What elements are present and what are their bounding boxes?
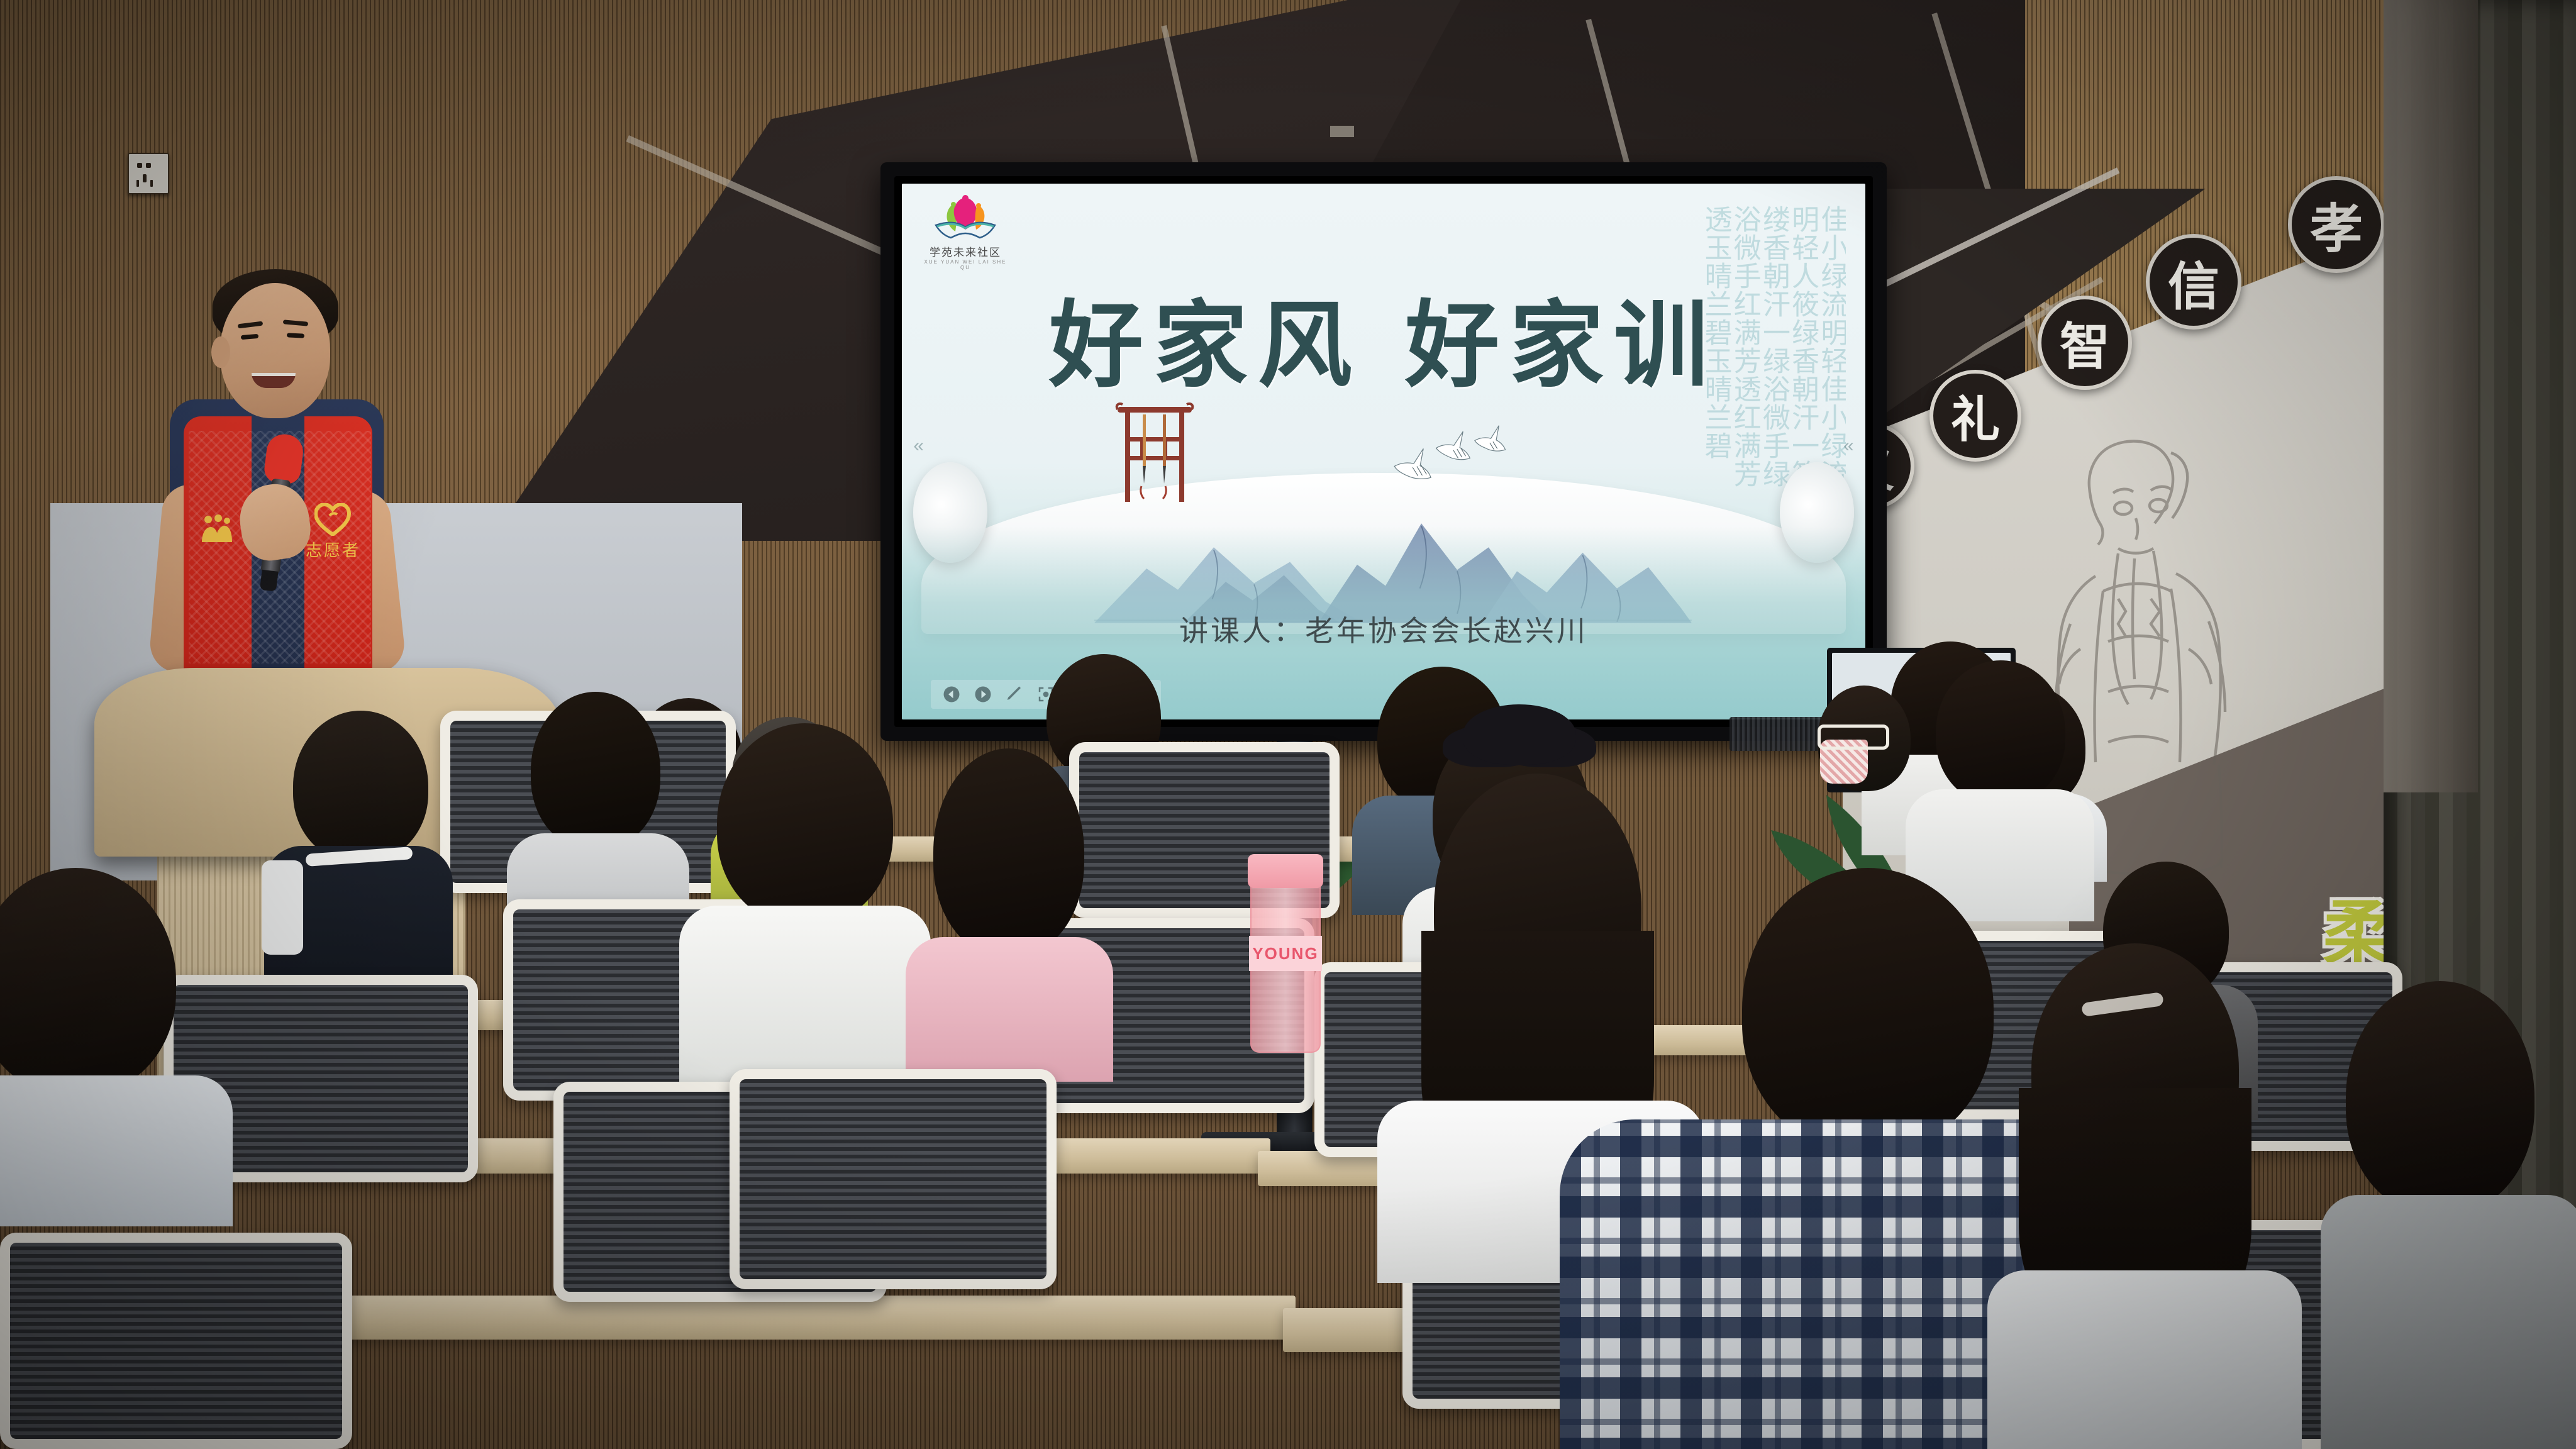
desk-row1: [314, 1296, 1296, 1340]
student-row2-1: [679, 723, 931, 1075]
hair-bow: [1463, 704, 1576, 765]
ceiling-marker: [1330, 126, 1354, 137]
nav-hint-right-icon[interactable]: «: [1843, 435, 1854, 457]
medallion-xiao: 孝: [2288, 176, 2385, 273]
water-bottle[interactable]: YOUNG: [1250, 880, 1321, 1053]
student-body: [679, 906, 931, 1082]
power-outlet[interactable]: [128, 153, 169, 194]
vest-heart-hand-icon: [314, 503, 351, 536]
student-head: [1936, 660, 2065, 804]
student-far-right: [2321, 981, 2576, 1449]
presentation-slide[interactable]: 佳小绿流明轻佳小绿流明轻人筱绿香朝汗一筱缕香朝汗一绿浴微手绿浴微手红满芳透红满芳…: [902, 184, 1865, 719]
chair-r1-c[interactable]: [730, 1069, 1057, 1289]
student-head: [933, 748, 1084, 956]
eyeglasses: [1818, 724, 1889, 750]
nav-hint-left-icon[interactable]: «: [913, 435, 924, 457]
logo-pinyin: XUE YUAN WEI LAI SHE QU: [918, 259, 1013, 270]
student-head: [531, 692, 660, 849]
student-row3-1: [264, 711, 453, 975]
adult-head: [1742, 868, 1994, 1151]
student-body: [0, 1075, 233, 1226]
microphone-tip: [260, 570, 279, 592]
chair-r1-a[interactable]: [0, 1233, 352, 1449]
student-head: [0, 868, 176, 1094]
student-head: [2346, 981, 2534, 1214]
curtain-highlight: [2384, 0, 2478, 792]
student-row2-2: [906, 748, 1113, 1075]
student-masked: [1805, 686, 1918, 830]
student-front-left: [0, 868, 239, 1220]
vest-text: 志愿者: [306, 538, 360, 561]
student-body: [2321, 1195, 2576, 1449]
presenter-head: [220, 283, 330, 418]
bottle-cap[interactable]: [1248, 854, 1323, 888]
student-body: [1987, 1270, 2302, 1449]
community-logo: 学苑未来社区 XUE YUAN WEI LAI SHE QU: [918, 195, 1013, 270]
previous-slide-icon[interactable]: [942, 685, 961, 704]
presenter: 志愿者: [94, 252, 447, 730]
slide-subtitle: 讲课人：老年协会会长赵兴川: [902, 608, 1865, 650]
microphone-head: [263, 432, 305, 485]
presenter-ear: [211, 336, 230, 368]
student-body: [906, 937, 1113, 1082]
uniform-shoulder-white: [262, 860, 303, 955]
logo-name: 学苑未来社区: [918, 243, 1013, 259]
logo-mark-icon: [931, 195, 1000, 241]
presenter-eye-right: [287, 333, 304, 338]
classroom-scene: 义 礼 智 信 孝 柔 佳小绿流明轻佳小绿流明轻人筱绿香朝汗一筱缕香朝汗一绿浴微…: [0, 0, 2576, 1449]
student-head: [717, 723, 893, 924]
vest-emblem-icon: [197, 514, 236, 543]
medallion-li: 礼: [1929, 370, 2021, 462]
student-front-right: [1987, 943, 2302, 1449]
student-head: [293, 711, 428, 862]
medallion-xin: 信: [2146, 234, 2241, 330]
bottle-brand-label: YOUNG: [1249, 936, 1322, 971]
slide-title: 好家风 好家训: [902, 269, 1865, 406]
annotate-pen-icon[interactable]: [1005, 685, 1024, 704]
medallion-zhi: 智: [2038, 296, 2132, 390]
next-slide-icon[interactable]: [974, 685, 992, 704]
